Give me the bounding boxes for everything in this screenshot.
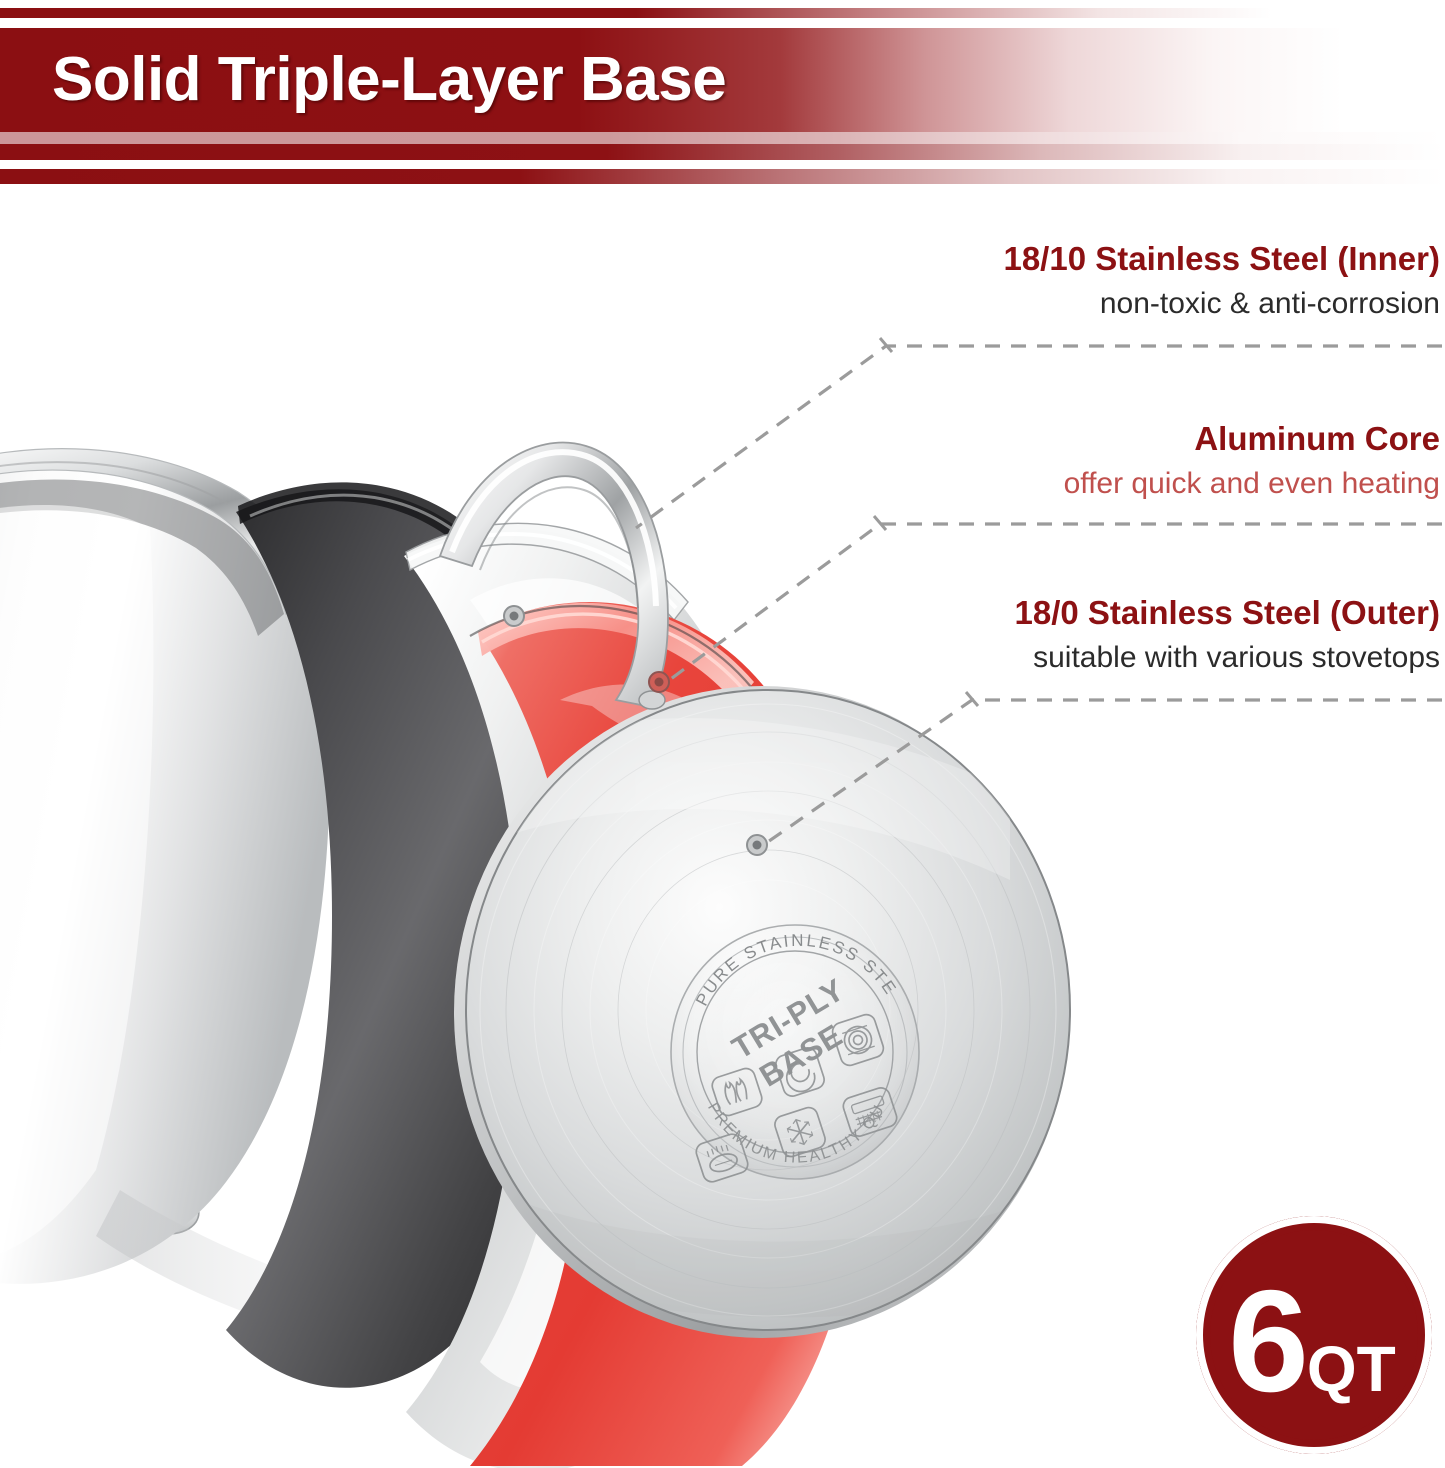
banner-gap-3 (0, 184, 1445, 196)
infographic-page: PURE STAINLESS STEEL PREMIUM HEALTHY QUA… (0, 0, 1445, 1468)
banner-gap-1 (0, 18, 1445, 28)
capacity-value: 6 (1228, 1276, 1305, 1406)
banner-stripe-top (0, 8, 1445, 18)
capacity-badge: 6 QT (1196, 1216, 1432, 1454)
cookware-illustration: PURE STAINLESS STEEL PREMIUM HEALTHY QUA… (0, 0, 1445, 1468)
banner-stripe-light (0, 132, 1445, 144)
header-banner: Solid Triple-Layer Base (0, 0, 1445, 196)
page-title: Solid Triple-Layer Base (52, 44, 726, 116)
annotation-subtitle: non-toxic & anti-corrosion (1003, 284, 1440, 324)
annotation-subtitle: suitable with various stovetops (1014, 638, 1440, 678)
annotation-subtitle: offer quick and even heating (1064, 464, 1440, 504)
capacity-badge-inner: 6 QT (1228, 1276, 1396, 1406)
banner-gap-2 (0, 160, 1445, 169)
capacity-unit: QT (1307, 1339, 1396, 1399)
annotation-title: 18/10 Stainless Steel (Inner) (1003, 238, 1440, 280)
banner-stripe-mid (0, 144, 1445, 160)
annotation-inner-steel: 18/10 Stainless Steel (Inner) non-toxic … (1003, 238, 1440, 324)
annotation-aluminum-core: Aluminum Core offer quick and even heati… (1064, 418, 1440, 504)
banner-stripe-bottom (0, 169, 1445, 184)
annotation-outer-steel: 18/0 Stainless Steel (Outer) suitable wi… (1014, 592, 1440, 678)
annotation-title: Aluminum Core (1064, 418, 1440, 460)
annotation-title: 18/0 Stainless Steel (Outer) (1014, 592, 1440, 634)
